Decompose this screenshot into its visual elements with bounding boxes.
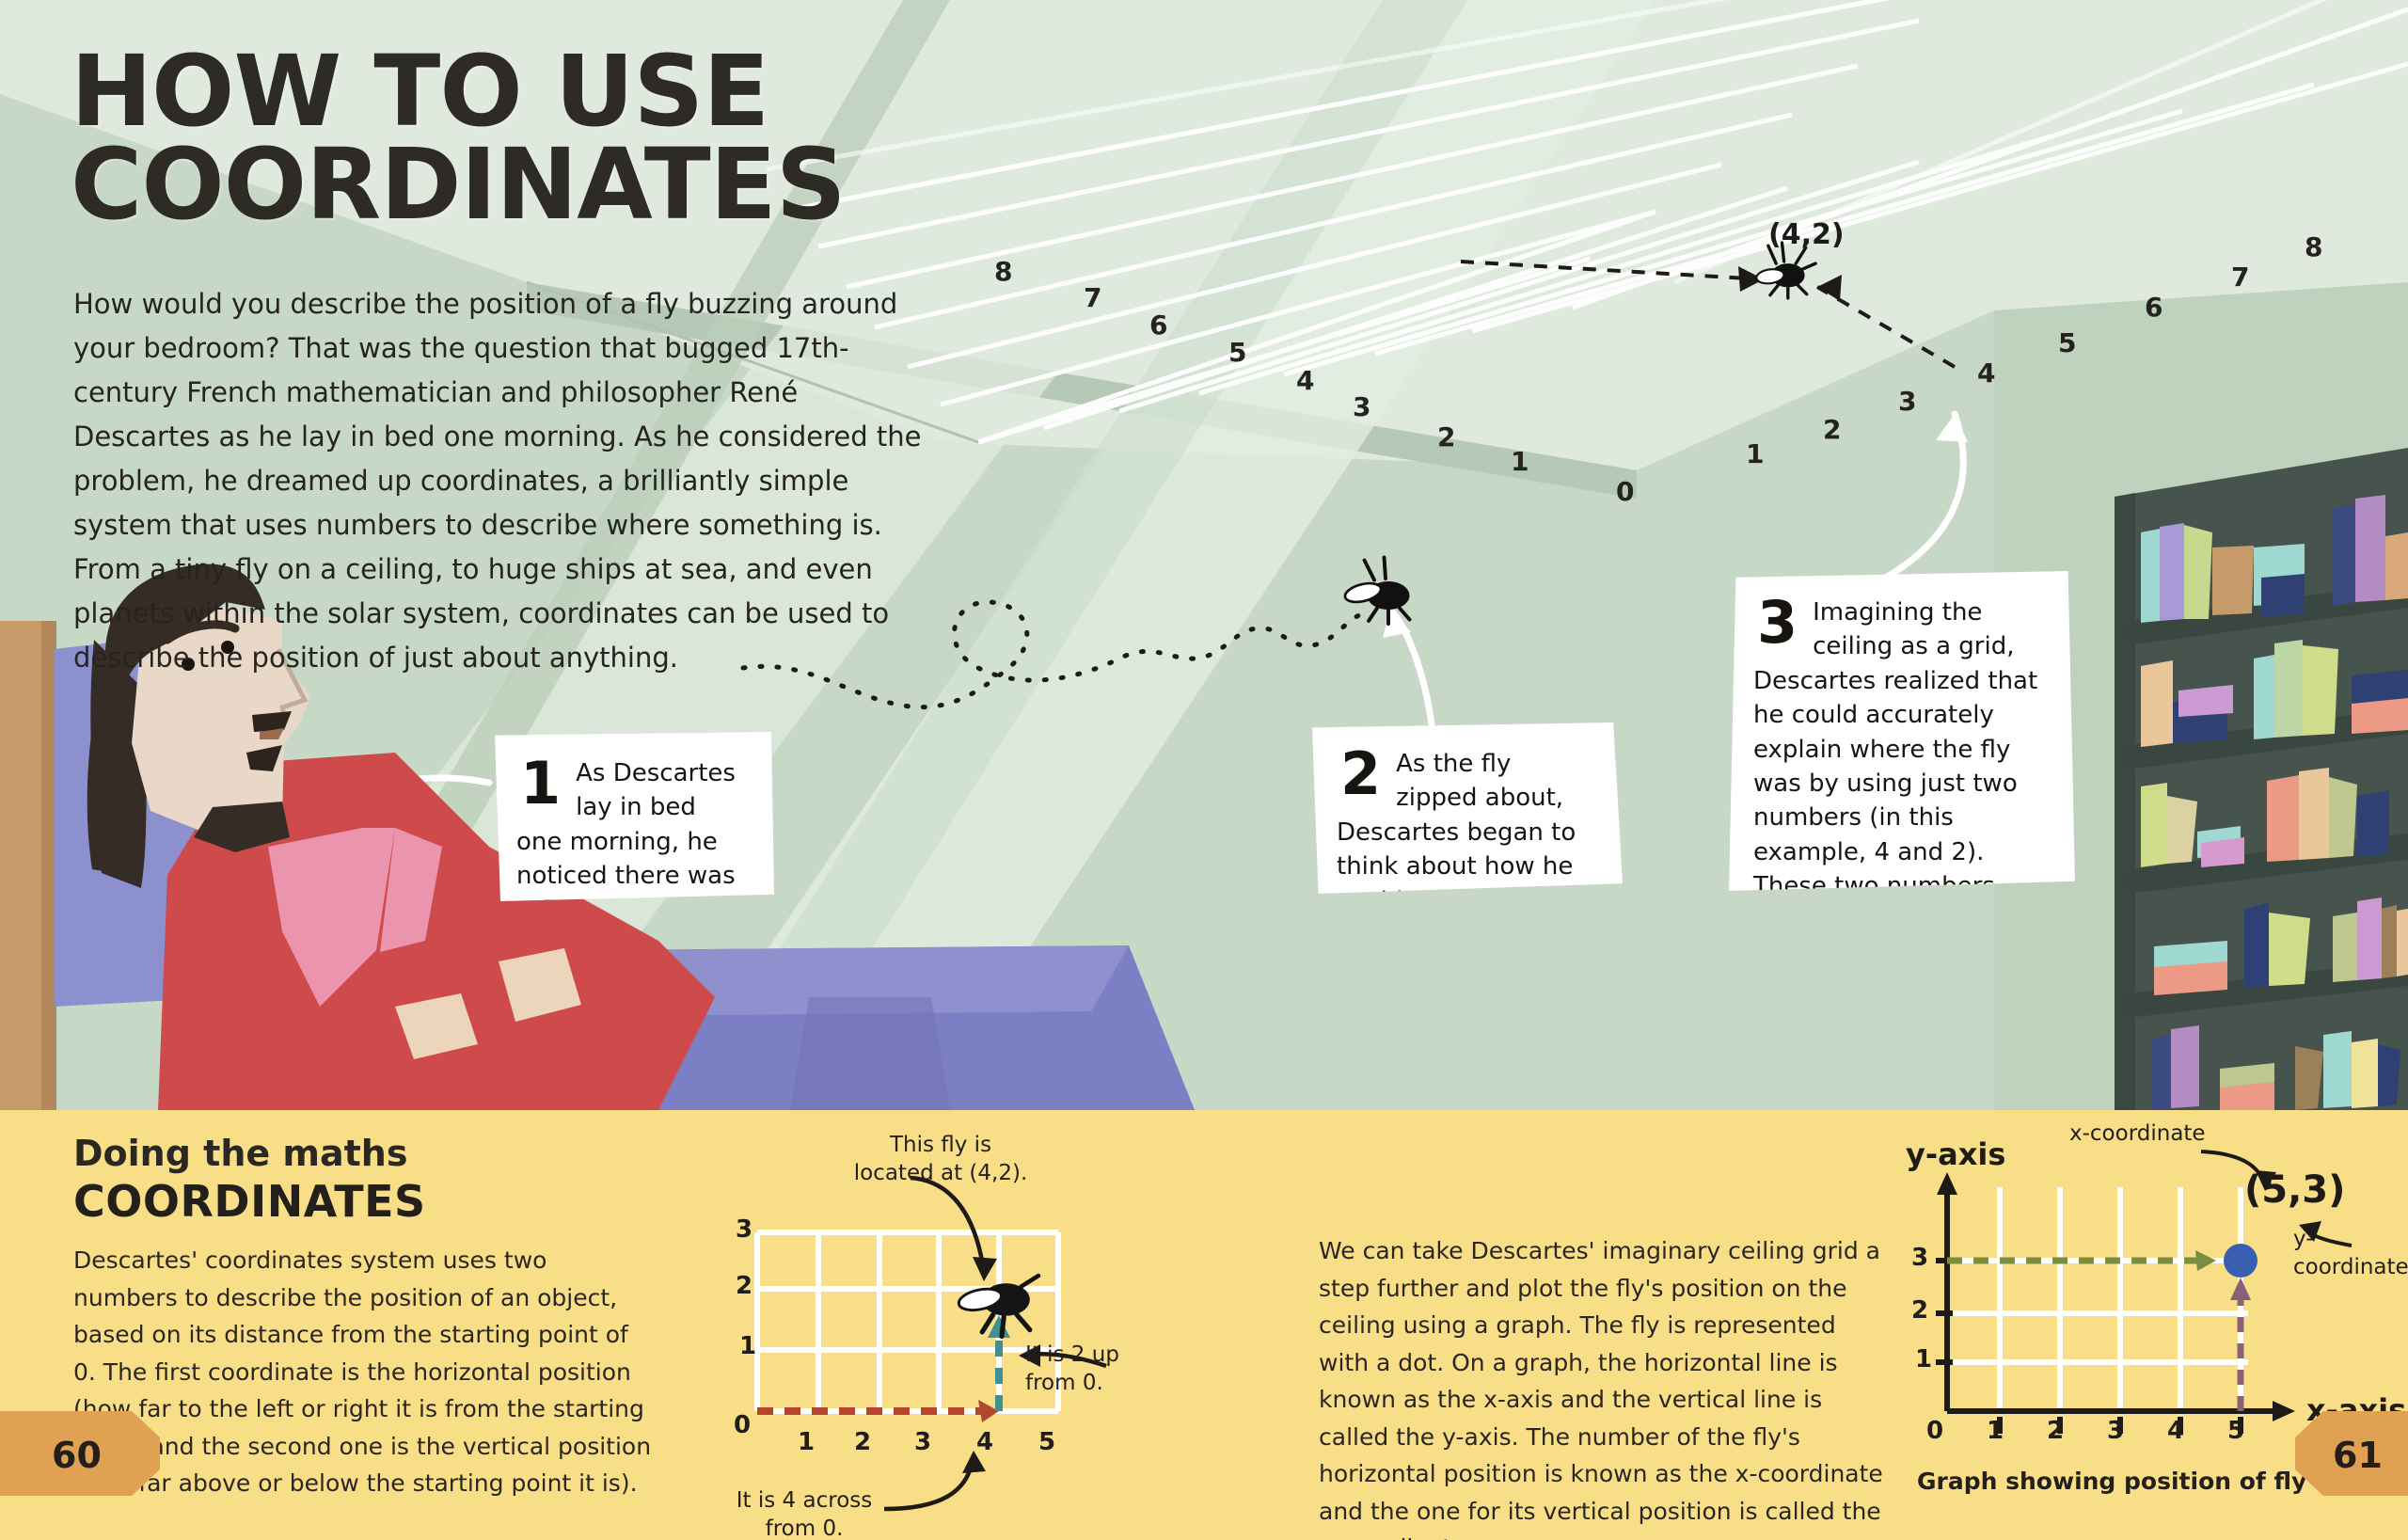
- ceiling-right-label-6: 6: [2145, 292, 2162, 323]
- ceiling-left-label-8: 8: [994, 256, 1012, 287]
- fly-grid-ytick-2: 2: [736, 1272, 752, 1300]
- fly-grid-xtick-3: 3: [914, 1428, 931, 1456]
- anno-arrow-bottom: [884, 1460, 973, 1509]
- anno-arrow-top-head: [973, 1257, 997, 1281]
- y-axis-arrowhead: [1937, 1172, 1957, 1195]
- graph-xtick-4: 4: [2167, 1417, 2184, 1445]
- anno-arrow-top: [911, 1178, 984, 1272]
- bedroom-scene: 8 7 6 5 4 3 2 1 0 1 2 3 4 5 6 7 8 (4,2) …: [0, 0, 2408, 1110]
- graph-xtick-2: 2: [2047, 1417, 2064, 1445]
- callout-number-1: 1: [520, 758, 561, 810]
- graph-point-label: (5,3): [2244, 1168, 2345, 1212]
- graph-xtick-1: 1: [1987, 1417, 2004, 1445]
- page-number-right: 61: [2333, 1435, 2383, 1476]
- ceiling-fly-coordinate-label: (4,2): [1768, 218, 1845, 251]
- ceiling-right-label-1: 1: [1746, 438, 1764, 469]
- fly-grid-ytick-0: 0: [734, 1411, 751, 1439]
- doing-the-maths-section: Doing the maths COORDINATES Descartes' c…: [0, 1110, 2408, 1540]
- graph-ytick-3: 3: [1911, 1244, 1928, 1272]
- graph-ycoord-annotation: y-coordinate: [2293, 1225, 2408, 1282]
- ceiling-left-label-2: 2: [1437, 421, 1455, 452]
- page-number-left: 60: [52, 1435, 102, 1476]
- bookshelf: [2115, 448, 2408, 1110]
- fly-grid-xtick-2: 2: [854, 1428, 871, 1456]
- fly-grid-annotation-bottom: It is 4 across from 0.: [724, 1486, 884, 1540]
- maths-heading-small: Doing the maths: [73, 1133, 407, 1174]
- fly-grid-xtick-4: 4: [976, 1428, 993, 1456]
- maths-heading-large: COORDINATES: [73, 1176, 426, 1227]
- page-title-line2: COORDINATES: [71, 138, 846, 231]
- ceiling-left-label-7: 7: [1084, 282, 1101, 313]
- pointer-callout3-arrowhead: [1936, 414, 1968, 442]
- ceiling-left-label-1: 1: [1511, 446, 1529, 477]
- callout-card-1: 1 As Descartes lay in bed one morning, h…: [492, 732, 774, 901]
- maths-right-text: We can take Descartes' imaginary ceiling…: [1319, 1232, 1893, 1540]
- graph-h-arrow-head: [2195, 1250, 2216, 1271]
- fly-grid-xtick-5: 5: [1038, 1428, 1055, 1456]
- fly-grid-annotation-right: It is 2 up from 0.: [1025, 1341, 1166, 1398]
- graph-xtick-0: 0: [1926, 1417, 1943, 1445]
- graph-ytick-1: 1: [1915, 1345, 1932, 1373]
- ceiling-origin-label: 0: [1616, 476, 1634, 507]
- graph-data-point: [2224, 1244, 2257, 1278]
- ceiling-right-label-5: 5: [2058, 327, 2076, 358]
- ceiling-left-label-6: 6: [1149, 310, 1167, 341]
- blanket-shade: [790, 997, 950, 1110]
- callout-card-2: 2 As the fly zipped about, Descartes beg…: [1312, 722, 1623, 894]
- graph-xcoord-annotation: x-coordinate: [2069, 1119, 2206, 1148]
- graph-xtick-5: 5: [2227, 1417, 2244, 1445]
- graph-y-axis-label: y-axis: [1906, 1136, 2005, 1172]
- page-title: HOW TO USE COORDINATES: [71, 45, 846, 231]
- graph-xtick-3: 3: [2107, 1417, 2124, 1445]
- book-spread: 8 7 6 5 4 3 2 1 0 1 2 3 4 5 6 7 8 (4,2) …: [0, 0, 2408, 1540]
- fly-grid-annotation-top: This fly is located at (4,2).: [847, 1131, 1035, 1188]
- ceiling-right-label-4: 4: [1977, 357, 1995, 389]
- ceiling-left-label-4: 4: [1296, 365, 1314, 396]
- ceiling-right-label-2: 2: [1823, 414, 1841, 445]
- callout-number-3: 3: [1757, 597, 1798, 649]
- ceiling-right-label-7: 7: [2231, 262, 2249, 293]
- ceiling-right-label-3: 3: [1898, 386, 1916, 417]
- buzzing-fly-icon: [1343, 558, 1410, 625]
- fly-grid-ytick-1: 1: [739, 1332, 756, 1360]
- graph-caption: Graph showing position of fly: [1917, 1468, 2306, 1495]
- ceiling-left-label-3: 3: [1353, 391, 1370, 422]
- ceiling-right-label-8: 8: [2305, 231, 2322, 262]
- callout-card-3: 3 Imagining the ceiling as a grid, Desca…: [1729, 571, 2075, 891]
- intro-paragraph: How would you describe the position of a…: [73, 282, 939, 680]
- headboard-shadow: [41, 621, 56, 1110]
- callout-number-2: 2: [1340, 749, 1381, 801]
- graph-ytick-2: 2: [1911, 1296, 1928, 1325]
- fly-grid-xtick-1: 1: [798, 1428, 815, 1456]
- graph-v-arrow-head: [2230, 1278, 2251, 1300]
- page-title-line1: HOW TO USE: [71, 45, 846, 138]
- fly-grid-ytick-3: 3: [736, 1215, 752, 1244]
- ceiling-left-label-5: 5: [1228, 337, 1246, 368]
